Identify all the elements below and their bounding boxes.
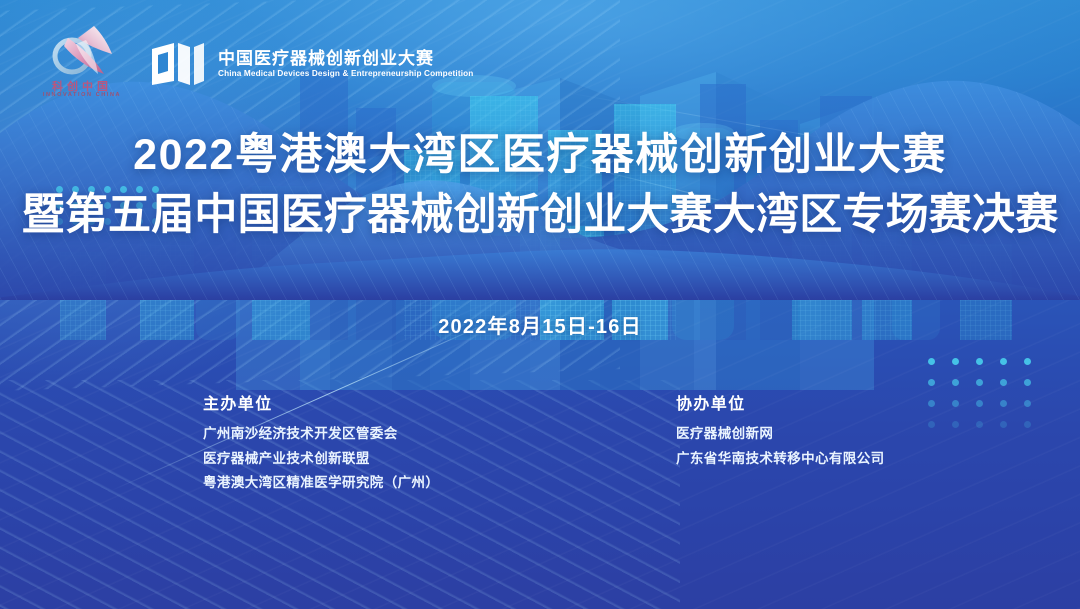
innovation-china-logo: 科创中国 INNOVATION CHINA — [36, 24, 128, 104]
event-poster: 科创中国 INNOVATION CHINA 中国医疗器械创新创业大赛 China… — [0, 0, 1080, 609]
innovation-china-logo-en: INNOVATION CHINA — [38, 92, 126, 98]
host-item: 广州南沙经济技术开发区管委会 — [203, 426, 439, 442]
header-logos: 科创中国 INNOVATION CHINA 中国医疗器械创新创业大赛 China… — [36, 24, 473, 104]
competition-logo-text: 中国医疗器械创新创业大赛 China Medical Devices Desig… — [218, 50, 473, 78]
host-item: 医疗器械产业技术创新联盟 — [203, 451, 439, 467]
host-item: 粤港澳大湾区精准医学研究院（广州） — [203, 475, 439, 491]
host-organizers: 主办单位 广州南沙经济技术开发区管委会 医疗器械产业技术创新联盟 粤港澳大湾区精… — [203, 390, 439, 500]
host-heading: 主办单位 — [203, 390, 439, 414]
competition-logo: 中国医疗器械创新创业大赛 China Medical Devices Desig… — [150, 41, 473, 87]
co-host-heading: 协办单位 — [676, 390, 885, 414]
open-book-mark-icon — [150, 41, 206, 87]
innovation-china-bird-mark-icon — [42, 24, 122, 80]
co-host-organizers: 协办单位 医疗器械创新网 广东省华南技术转移中心有限公司 — [676, 390, 885, 475]
competition-logo-cn: 中国医疗器械创新创业大赛 — [218, 50, 473, 67]
title-line-1: 2022粤港澳大湾区医疗器械创新创业大赛 — [0, 132, 1080, 178]
title-line-2: 暨第五届中国医疗器械创新创业大赛大湾区专场赛决赛 — [0, 192, 1080, 238]
organizers-section: 主办单位 广州南沙经济技术开发区管委会 医疗器械产业技术创新联盟 粤港澳大湾区精… — [0, 390, 1080, 510]
competition-logo-en: China Medical Devices Design & Entrepren… — [218, 70, 473, 78]
co-host-item: 医疗器械创新网 — [676, 426, 885, 442]
poster-title: 2022粤港澳大湾区医疗器械创新创业大赛 暨第五届中国医疗器械创新创业大赛大湾区… — [0, 132, 1080, 239]
event-date: 2022年8月15日-16日 — [0, 310, 1080, 339]
co-host-item: 广东省华南技术转移中心有限公司 — [676, 451, 885, 467]
